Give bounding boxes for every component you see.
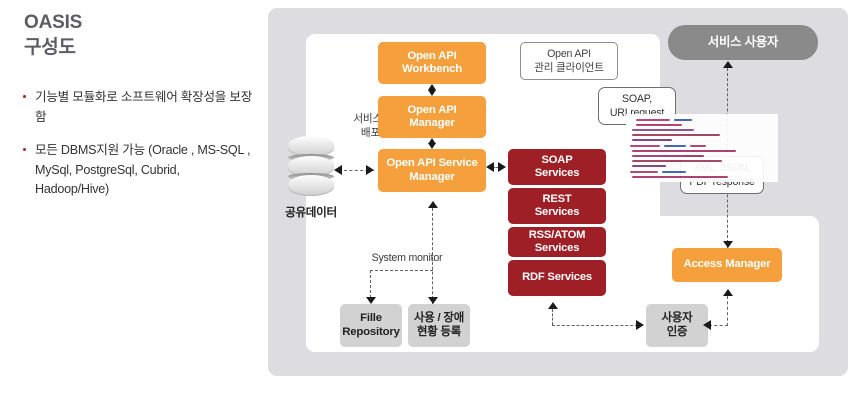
connector-rdf-auth-v xyxy=(552,309,553,325)
database-cylinder-icon xyxy=(288,136,334,198)
arrow-left-icon xyxy=(334,165,342,175)
connector-monitor-file-repo xyxy=(370,270,371,298)
node-service-user[interactable]: 서비스 사용자 xyxy=(668,25,818,60)
connector-auth-access-manager-h xyxy=(709,325,728,326)
connector-rdf-auth-h xyxy=(552,325,638,326)
list-item: 기능별 모듈화로 소프트웨어 확장성을 보장함 xyxy=(22,88,254,127)
node-rdf-services[interactable]: RDF Services xyxy=(508,260,606,296)
arrow-up-icon xyxy=(548,302,558,309)
shared-datastore: 공유데이터 xyxy=(274,136,348,236)
connector-monitor-up xyxy=(432,208,433,304)
page-title-line-2: 구성도 xyxy=(24,35,82,60)
edge-label-system-monitor: System monitor xyxy=(360,251,454,265)
bullet-text: 기능별 모듈화로 소프트웨어 확장성을 보장함 xyxy=(35,90,252,124)
arrow-up-icon xyxy=(723,289,733,296)
arrow-down-icon xyxy=(428,297,438,304)
architecture-diagram: 공유데이터 서비스 생성, 배포관리 Open API Workbench Op… xyxy=(268,8,848,376)
node-user-authentication[interactable]: 사용자 인증 xyxy=(646,304,708,347)
node-open-api-management-client[interactable]: Open API 관리 클라이언트 xyxy=(520,42,618,80)
node-file-repository[interactable]: Fille Repository xyxy=(340,304,402,347)
arrow-right-icon xyxy=(366,165,374,175)
arrow-up-icon xyxy=(428,201,438,208)
sidebar: OASIS 구성도 기능별 모듈화로 소프트웨어 확장성을 보장함 모든 DBM… xyxy=(0,0,262,416)
node-rest-services[interactable]: REST Services xyxy=(508,188,606,224)
arrow-right-icon xyxy=(498,162,506,172)
page-title-line-1: OASIS xyxy=(24,10,82,35)
node-rss-atom-services[interactable]: RSS/ATOM Services xyxy=(508,227,606,257)
node-usage-fault-status[interactable]: 사용 / 장애 현황 등록 xyxy=(408,304,470,347)
bullet-text: 모든 DBMS지원 가능 (Oracle , MS-SQL , MySql, P… xyxy=(35,143,250,196)
connector-monitor-branch xyxy=(370,270,433,271)
node-open-api-manager[interactable]: Open API Manager xyxy=(378,96,486,138)
node-soap-services[interactable]: SOAP Services xyxy=(508,149,606,185)
datastore-label: 공유데이터 xyxy=(274,204,348,220)
bullet-list: 기능별 모듈화로 소프트웨어 확장성을 보장함 모든 DBMS지원 가능 (Or… xyxy=(22,88,254,214)
arrow-right-icon xyxy=(636,320,644,330)
arrow-up-icon xyxy=(723,61,733,68)
node-open-api-workbench[interactable]: Open API Workbench xyxy=(378,42,486,84)
bullet-dot-icon xyxy=(23,148,26,151)
connector-auth-access-manager xyxy=(727,296,728,326)
bullet-dot-icon xyxy=(23,95,26,98)
arrow-left-icon xyxy=(703,320,711,330)
xml-code-snippet-image xyxy=(626,114,778,182)
page-title: OASIS 구성도 xyxy=(24,10,82,60)
list-item: 모든 DBMS지원 가능 (Oracle , MS-SQL , MySql, P… xyxy=(22,141,254,200)
arrow-down-icon xyxy=(428,143,436,149)
node-open-api-service-manager[interactable]: Open API Service Manager xyxy=(378,149,486,192)
node-access-manager[interactable]: Access Manager xyxy=(672,248,782,282)
arrow-down-icon xyxy=(428,90,436,96)
arrow-down-icon xyxy=(366,297,376,304)
arrow-down-icon xyxy=(723,241,733,248)
arrow-left-icon xyxy=(486,162,494,172)
